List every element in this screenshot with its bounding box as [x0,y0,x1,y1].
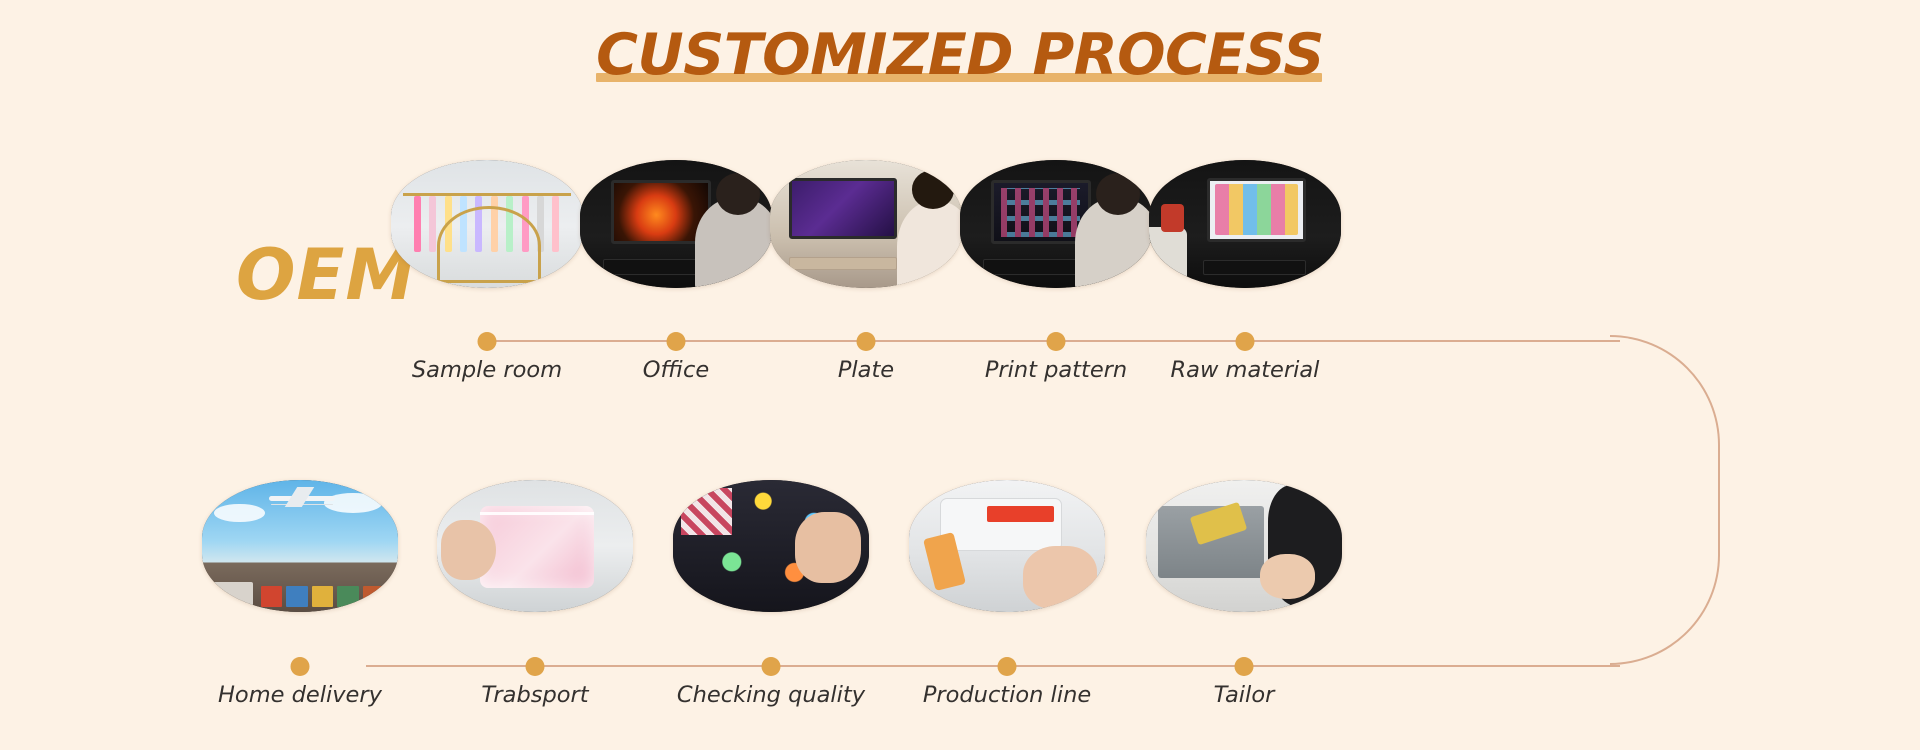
step-dot [998,657,1017,676]
step-label-tailor: Tailor [1129,682,1359,708]
step-production-line[interactable]: Production line [892,480,1122,612]
thumbnail-production-line[interactable] [909,480,1105,612]
step-dot [762,657,781,676]
step-label-raw-material: Raw material [1130,357,1360,383]
step-dot [857,332,876,351]
thumbnail-transport[interactable] [437,480,633,612]
step-label-transport: Trabsport [420,682,650,708]
step-transport[interactable]: Trabsport [420,480,650,612]
thumbnail-checking-quality[interactable] [673,480,869,612]
process-row-2: Home delivery Trabsport Checking quality [0,480,1920,730]
step-label-home-delivery: Home delivery [185,682,415,708]
thumbnail-tailor[interactable] [1146,480,1342,612]
step-checking-quality[interactable]: Checking quality [656,480,886,612]
thumbnail-home-delivery[interactable] [202,480,398,612]
thumbnail-sample-room[interactable] [391,160,583,288]
thumbnail-office[interactable] [580,160,772,288]
step-dot [291,657,310,676]
step-raw-material[interactable]: Raw material [1130,160,1360,288]
thumbnail-print-pattern[interactable] [960,160,1152,288]
step-dot [1236,332,1255,351]
thumbnail-raw-material[interactable] [1149,160,1341,288]
step-home-delivery[interactable]: Home delivery [185,480,415,612]
step-dot [1047,332,1066,351]
step-dot [667,332,686,351]
thumbnail-plate[interactable] [770,160,962,288]
step-tailor[interactable]: Tailor [1129,480,1359,612]
page-title-text: CUSTOMIZED PROCESS [596,22,1324,88]
step-label-production-line: Production line [892,682,1122,708]
customized-process-infographic: CUSTOMIZED PROCESS OEM [0,0,1920,750]
process-row-1: Sample room Office [0,160,1920,410]
step-label-checking-quality: Checking quality [656,682,886,708]
step-dot [478,332,497,351]
page-title: CUSTOMIZED PROCESS [0,22,1920,88]
connector-line-row-2 [366,665,1620,667]
step-dot [1235,657,1254,676]
step-dot [526,657,545,676]
